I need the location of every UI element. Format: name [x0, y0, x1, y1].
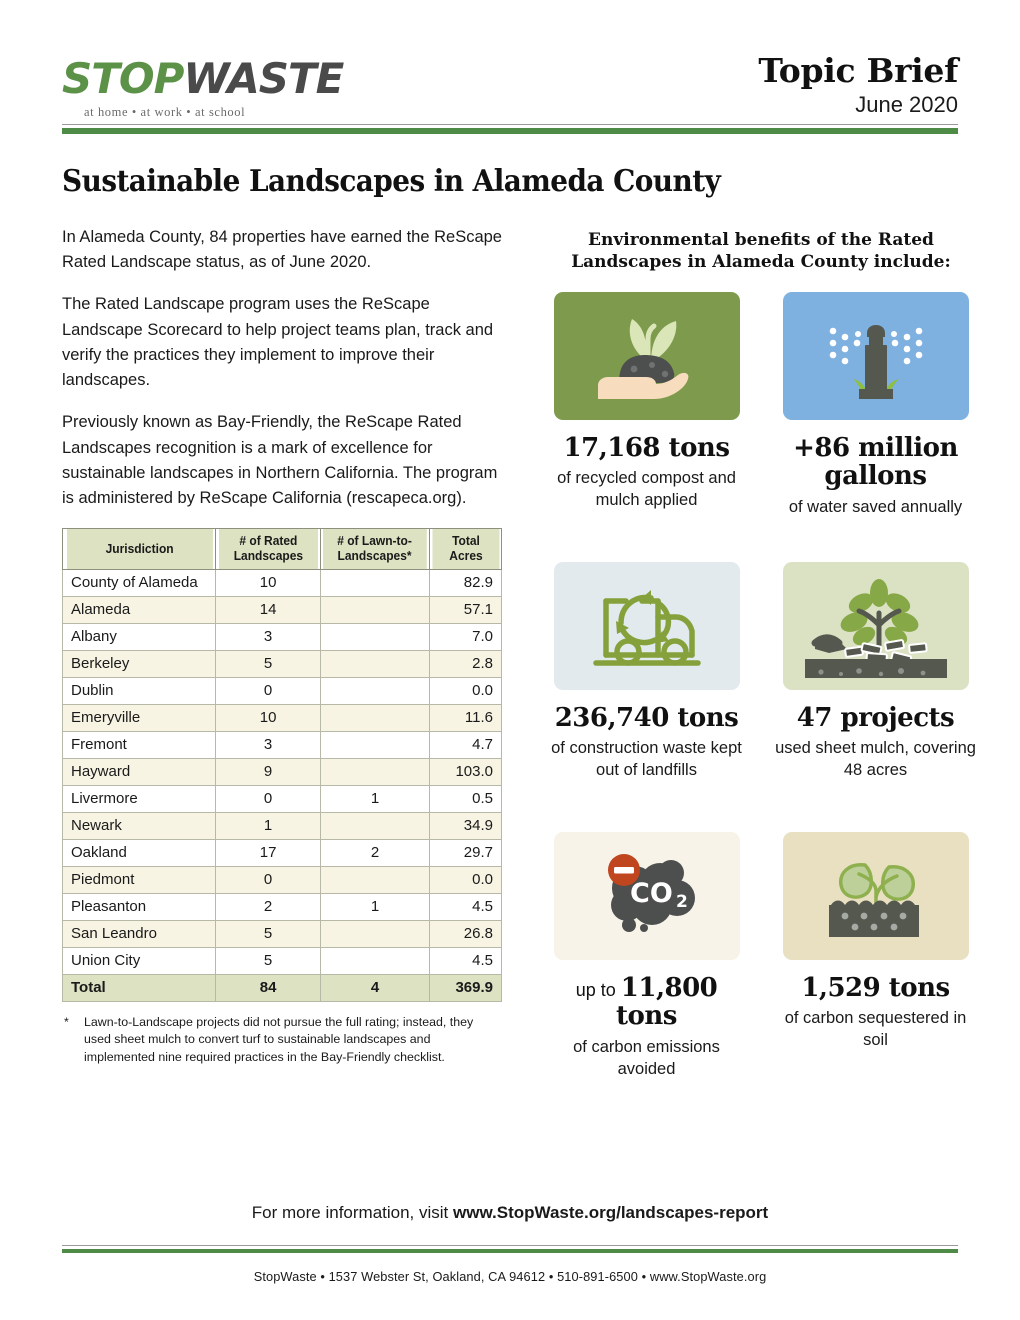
- cell-jurisdiction: Emeryville: [63, 704, 216, 731]
- table-row: Alameda1457.1: [63, 596, 502, 623]
- table-head: Jurisdiction # of Rated Landscapes # of …: [63, 529, 502, 570]
- table-row: Emeryville1011.6: [63, 704, 502, 731]
- cell-acres: 0.0: [430, 866, 502, 893]
- document-type: Topic Brief: [758, 54, 958, 89]
- cell-rated: 1: [216, 812, 321, 839]
- intro-paragraph-2: The Rated Landscape program uses the ReS…: [62, 292, 508, 393]
- logo-text-stop: STOP: [62, 54, 183, 103]
- intro-paragraph-1: In Alameda County, 84 properties have ea…: [62, 225, 508, 275]
- cell-lawn: 2: [320, 839, 429, 866]
- cell-rated: 10: [216, 704, 321, 731]
- benefit-stat-description: of construction waste kept out of landfi…: [544, 738, 749, 781]
- cell-lawn: [320, 596, 429, 623]
- header-right: Topic Brief June 2020: [758, 52, 958, 118]
- cell-acres: 26.8: [430, 920, 502, 947]
- cell-lawn: [320, 677, 429, 704]
- benefit-item: 1,529 tonsof carbon sequestered in soil: [773, 832, 978, 1102]
- cell-acres: 2.8: [430, 650, 502, 677]
- svg-text:2: 2: [676, 892, 688, 912]
- table-total-row: Total844369.9: [63, 974, 502, 1001]
- page-header: STOPWASTE at home • at work • at school …: [62, 0, 958, 112]
- cell-rated: 3: [216, 623, 321, 650]
- more-info-lead: For more information, visit: [252, 1203, 453, 1222]
- cell-jurisdiction: Hayward: [63, 758, 216, 785]
- footer-contact-line: StopWaste • 1537 Webster St, Oakland, CA…: [62, 1269, 958, 1284]
- benefit-item: +86 million gallonsof water saved annual…: [773, 292, 978, 562]
- cell-acres: 4.5: [430, 893, 502, 920]
- right-column: Environmental benefits of the Rated Land…: [544, 225, 978, 1102]
- cell-rated: 0: [216, 785, 321, 812]
- table-row: Pleasanton214.5: [63, 893, 502, 920]
- divider-green-band: [62, 128, 958, 134]
- benefit-stat-value: +86 million gallons: [773, 434, 978, 491]
- col-header-lawn-line1: # of Lawn-to-: [338, 534, 413, 548]
- col-header-acres-line2: Acres: [449, 549, 482, 563]
- table-row: Newark134.9: [63, 812, 502, 839]
- table-row: Berkeley52.8: [63, 650, 502, 677]
- cell-lawn: [320, 569, 429, 596]
- cell-jurisdiction: County of Alameda: [63, 569, 216, 596]
- col-header-acres-line1: Total: [452, 534, 480, 548]
- col-header-lawn-line2: Landscapes*: [338, 549, 412, 563]
- benefit-stat-description: of water saved annually: [773, 497, 978, 518]
- footer-divider: [62, 1245, 958, 1253]
- table-row: Dublin00.0: [63, 677, 502, 704]
- document-page: STOPWASTE at home • at work • at school …: [0, 0, 1020, 1320]
- stopwaste-logo: STOPWASTE at home • at work • at school: [62, 52, 312, 120]
- benefit-item: 47 projectsused sheet mulch, covering 48…: [773, 562, 978, 832]
- cell-rated: 5: [216, 920, 321, 947]
- sprinkler-irrigation-icon: [783, 292, 969, 420]
- col-header-rated-landscapes: # of Rated Landscapes: [218, 529, 319, 570]
- cell-rated: 0: [216, 677, 321, 704]
- benefit-stat-prefix: up to: [576, 980, 621, 1000]
- benefit-stat-description: used sheet mulch, covering 48 acres: [773, 738, 978, 781]
- cell-acres: 11.6: [430, 704, 502, 731]
- logo-wordmark: STOPWASTE: [62, 58, 312, 100]
- document-date: June 2020: [758, 91, 958, 119]
- benefits-grid: 17,168 tonsof recycled compost and mulch…: [544, 292, 978, 1102]
- benefit-stat-value: up to 11,800 tons: [544, 974, 749, 1031]
- table-row: Fremont34.7: [63, 731, 502, 758]
- table-body: County of Alameda1082.9Alameda1457.1Alba…: [63, 569, 502, 1001]
- table-row: Union City54.5: [63, 947, 502, 974]
- table-footnote: * Lawn-to-Landscape projects did not pur…: [62, 1014, 492, 1067]
- hand-holding-seedling-icon: [554, 292, 740, 420]
- cell-total-label: Total: [63, 974, 216, 1001]
- benefit-stat-value: 17,168 tons: [544, 434, 749, 463]
- benefit-item: CO2up to 11,800 tonsof carbon emissions …: [544, 832, 749, 1102]
- cell-total-acres: 369.9: [430, 974, 502, 1001]
- svg-text:CO: CO: [630, 878, 673, 909]
- cell-rated: 0: [216, 866, 321, 893]
- cell-lawn: [320, 866, 429, 893]
- left-column: In Alameda County, 84 properties have ea…: [62, 225, 508, 1102]
- table-row: County of Alameda1082.9: [63, 569, 502, 596]
- jurisdiction-table: Jurisdiction # of Rated Landscapes # of …: [62, 528, 502, 1002]
- cell-lawn: 1: [320, 893, 429, 920]
- cell-lawn: [320, 758, 429, 785]
- cell-rated: 17: [216, 839, 321, 866]
- table-row: Piedmont00.0: [63, 866, 502, 893]
- table-header-row: Jurisdiction # of Rated Landscapes # of …: [63, 529, 502, 570]
- cell-jurisdiction: Livermore: [63, 785, 216, 812]
- cell-acres: 34.9: [430, 812, 502, 839]
- table-row: Livermore010.5: [63, 785, 502, 812]
- cell-jurisdiction: Oakland: [63, 839, 216, 866]
- sheet-mulch-plant-icon: [783, 562, 969, 690]
- benefit-stat-description: of recycled compost and mulch applied: [544, 468, 749, 511]
- cell-acres: 0.5: [430, 785, 502, 812]
- cell-acres: 103.0: [430, 758, 502, 785]
- cell-lawn: [320, 812, 429, 839]
- benefit-item: 236,740 tonsof construction waste kept o…: [544, 562, 749, 832]
- footnote-text: Lawn-to-Landscape projects did not pursu…: [84, 1014, 492, 1067]
- benefit-stat-value: 47 projects: [773, 704, 978, 733]
- footnote-marker: *: [62, 1014, 84, 1067]
- more-information-line: For more information, visit www.StopWast…: [62, 1203, 958, 1223]
- footer-divider-green-band: [62, 1249, 958, 1253]
- page-footer: For more information, visit www.StopWast…: [62, 1191, 958, 1284]
- cell-lawn: [320, 704, 429, 731]
- cell-rated: 9: [216, 758, 321, 785]
- benefit-stat-description: of carbon sequestered in soil: [773, 1008, 978, 1051]
- cell-lawn: [320, 731, 429, 758]
- cell-rated: 14: [216, 596, 321, 623]
- cell-jurisdiction: Piedmont: [63, 866, 216, 893]
- content-columns: In Alameda County, 84 properties have ea…: [62, 225, 958, 1102]
- col-header-total-acres: Total Acres: [431, 529, 500, 570]
- benefits-heading: Environmental benefits of the Rated Land…: [544, 229, 978, 274]
- cell-lawn: [320, 920, 429, 947]
- cell-acres: 4.7: [430, 731, 502, 758]
- col-header-lawn-to-landscapes: # of Lawn-to- Landscapes*: [323, 529, 428, 570]
- table-row: Hayward9103.0: [63, 758, 502, 785]
- recycling-truck-icon: [554, 562, 740, 690]
- carbon-soil-sprout-icon: [783, 832, 969, 960]
- cell-jurisdiction: Fremont: [63, 731, 216, 758]
- table-row: San Leandro526.8: [63, 920, 502, 947]
- page-title: Sustainable Landscapes in Alameda County: [62, 164, 895, 199]
- cell-jurisdiction: Berkeley: [63, 650, 216, 677]
- cell-rated: 10: [216, 569, 321, 596]
- cell-jurisdiction: Pleasanton: [63, 893, 216, 920]
- cell-rated: 5: [216, 650, 321, 677]
- cell-jurisdiction: Newark: [63, 812, 216, 839]
- col-header-rated-line1: # of Rated: [239, 534, 297, 548]
- cell-rated: 3: [216, 731, 321, 758]
- cell-jurisdiction: Alameda: [63, 596, 216, 623]
- co2-reduction-icon: CO2: [554, 832, 740, 960]
- divider-thin-line: [62, 124, 958, 125]
- cell-acres: 0.0: [430, 677, 502, 704]
- col-header-rated-line2: Landscapes: [233, 549, 302, 563]
- cell-acres: 82.9: [430, 569, 502, 596]
- table-row: Albany37.0: [63, 623, 502, 650]
- cell-acres: 57.1: [430, 596, 502, 623]
- cell-lawn: 1: [320, 785, 429, 812]
- cell-acres: 7.0: [430, 623, 502, 650]
- cell-acres: 29.7: [430, 839, 502, 866]
- cell-lawn: [320, 947, 429, 974]
- cell-jurisdiction: Dublin: [63, 677, 216, 704]
- header-divider: [62, 124, 958, 134]
- benefit-stat-value: 1,529 tons: [773, 974, 978, 1003]
- table-row: Oakland17229.7: [63, 839, 502, 866]
- more-info-url[interactable]: www.StopWaste.org/landscapes-report: [453, 1203, 768, 1222]
- benefit-item: 17,168 tonsof recycled compost and mulch…: [544, 292, 749, 562]
- intro-paragraph-3: Previously known as Bay-Friendly, the Re…: [62, 410, 508, 511]
- benefit-stat-description: of carbon emissions avoided: [544, 1037, 749, 1080]
- cell-acres: 4.5: [430, 947, 502, 974]
- cell-lawn: [320, 650, 429, 677]
- cell-jurisdiction: Union City: [63, 947, 216, 974]
- cell-rated: 5: [216, 947, 321, 974]
- cell-total-rated: 84: [216, 974, 321, 1001]
- logo-tagline: at home • at work • at school: [84, 105, 312, 120]
- benefit-stat-value: 236,740 tons: [544, 704, 749, 733]
- logo-text-waste: WASTE: [183, 54, 343, 103]
- cell-jurisdiction: Albany: [63, 623, 216, 650]
- footer-divider-thin-line: [62, 1245, 958, 1246]
- cell-rated: 2: [216, 893, 321, 920]
- col-header-jurisdiction: Jurisdiction: [66, 529, 213, 570]
- cell-lawn: [320, 623, 429, 650]
- cell-jurisdiction: San Leandro: [63, 920, 216, 947]
- cell-total-lawn: 4: [320, 974, 429, 1001]
